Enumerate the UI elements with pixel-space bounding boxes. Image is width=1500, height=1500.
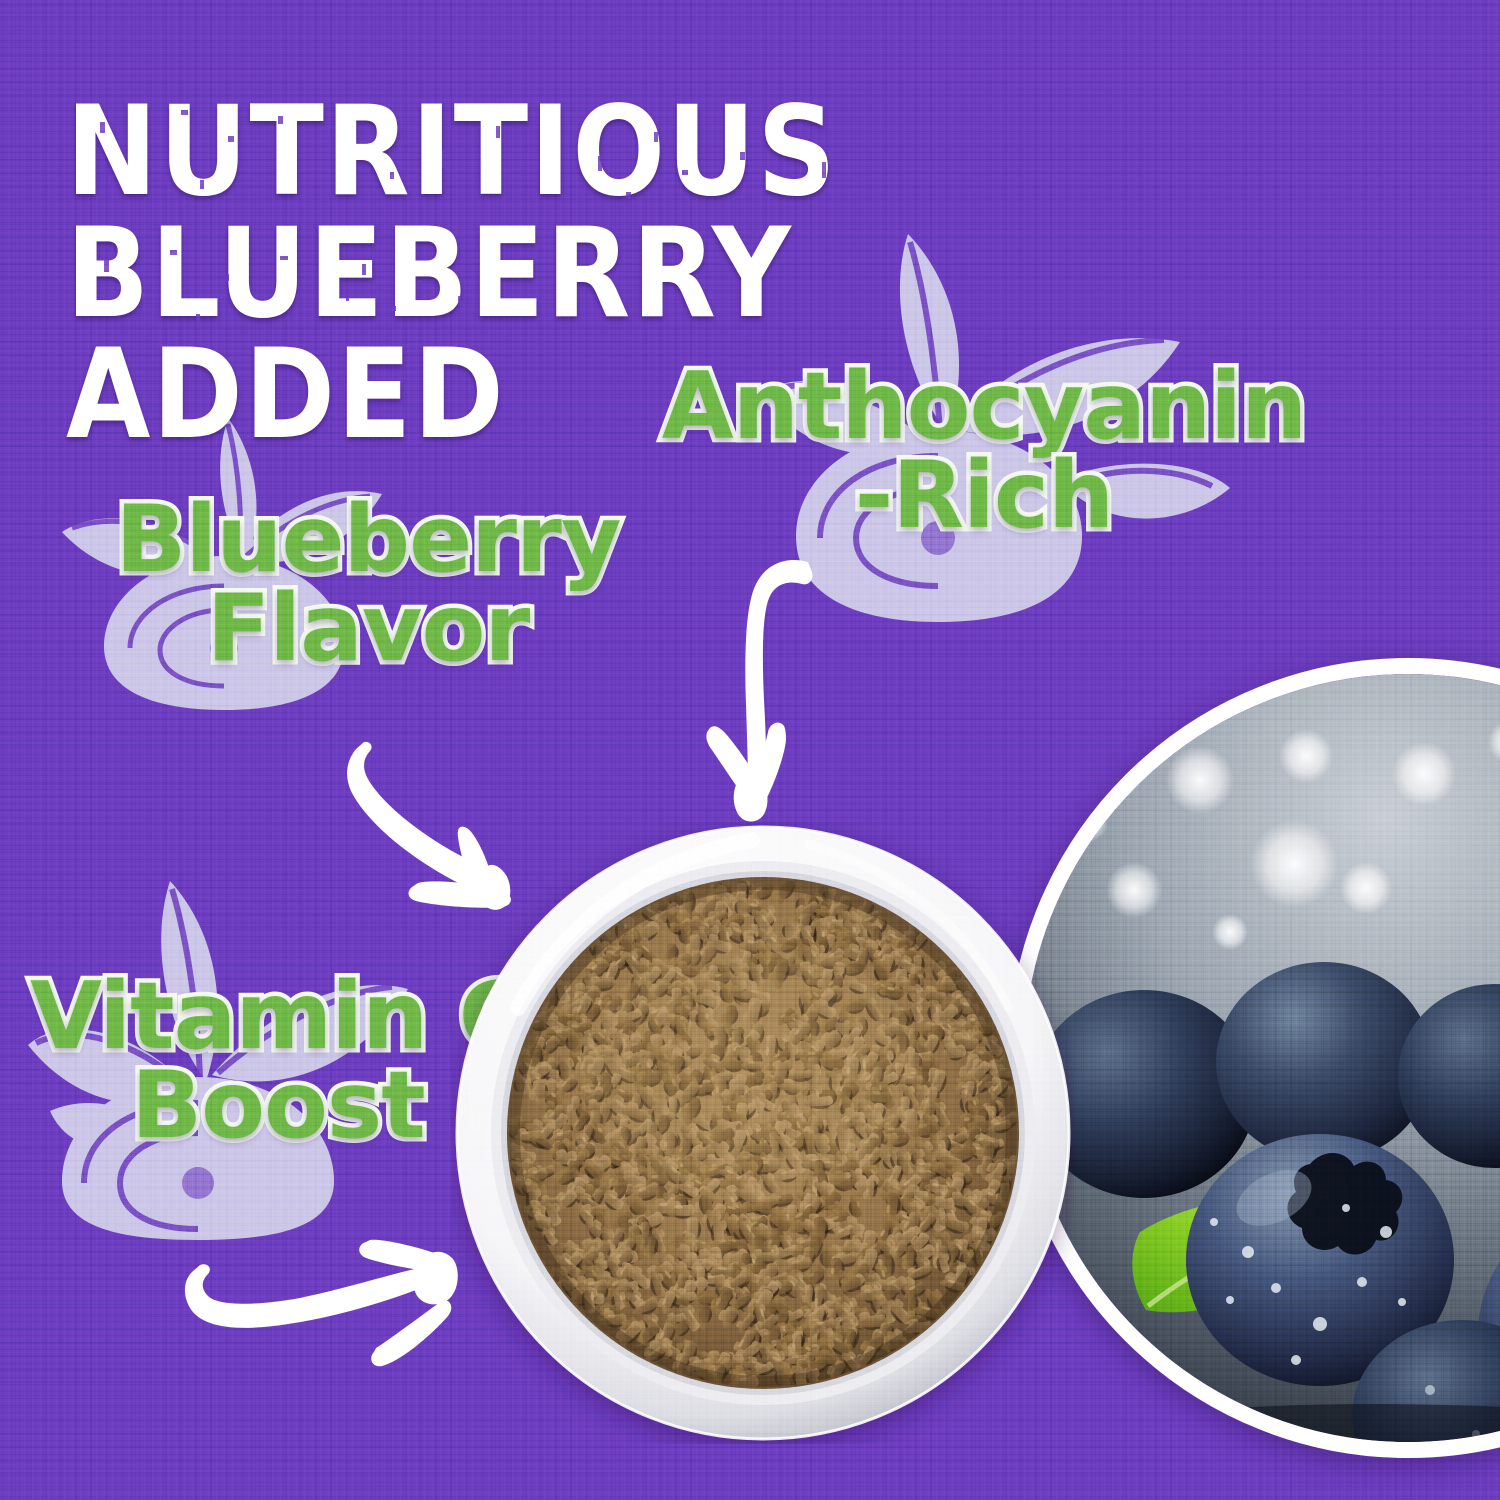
page-title-line-1: NUTRITIOUS BLUEBERRY: [66, 92, 1298, 335]
arrow-anthocyanin-rich-icon: [690, 540, 930, 830]
bowl-of-kibble: [452, 822, 1074, 1444]
arrow-vitamin-c-boost-icon: [160, 1220, 480, 1380]
blueberry-photo-inner: [1024, 674, 1500, 1442]
blueberry-photo-circle: [1008, 658, 1500, 1458]
feature-label-anthocyanin-rich: Anthocyanin -Rich: [628, 362, 1340, 541]
product-feature-banner: NUTRITIOUS BLUEBERRY ADDED: [0, 0, 1500, 1500]
feature-label-blueberry-flavor: Blueberry Flavor: [88, 495, 648, 674]
